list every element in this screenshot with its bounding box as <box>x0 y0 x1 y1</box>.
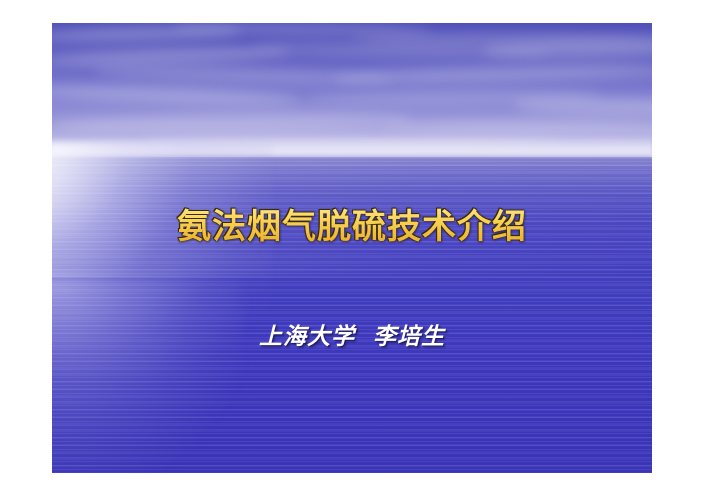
cloud-streak-icon <box>382 117 652 136</box>
cloud-streak-icon <box>332 63 652 85</box>
sun-glitter-tail <box>52 277 242 473</box>
cloud-streak-icon <box>512 95 652 117</box>
slide-subtitle: 上海大学 李培生 <box>52 317 652 351</box>
slide-canvas: 氨法烟气脱硫技术介绍 上海大学 李培生 <box>52 23 652 473</box>
slide-title: 氨法烟气脱硫技术介绍 <box>52 199 652 248</box>
cloud-streak-icon <box>52 110 412 134</box>
cloud-streak-icon <box>52 82 302 108</box>
